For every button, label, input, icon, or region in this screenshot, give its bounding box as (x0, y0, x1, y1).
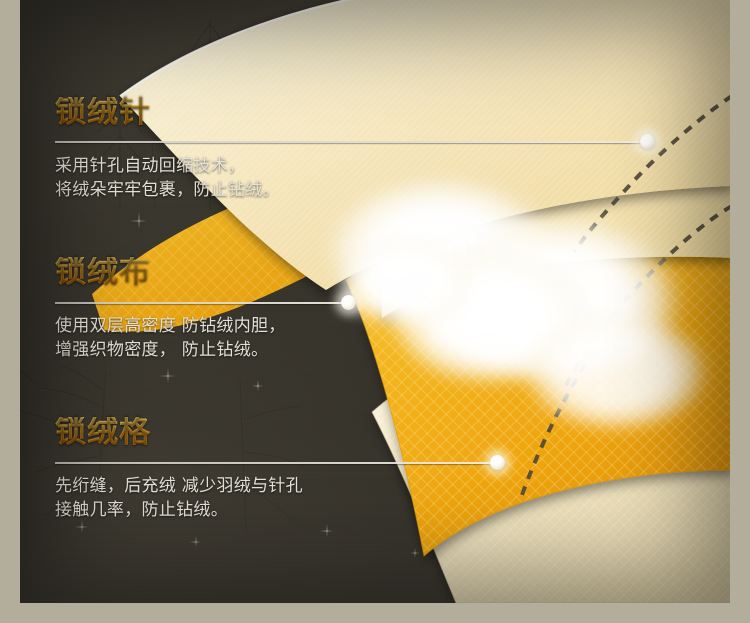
frame-edge-right (730, 0, 750, 623)
feature-description-2: 使用双层高密度 防钻绒内胆， 增强织物密度， 防止钻绒。 (55, 314, 485, 362)
feature-description-3: 先绗缝，后充绒 减少羽绒与针孔 接触几率，防止钻绒。 (55, 474, 485, 522)
feature-title-2: 锁绒布 (55, 257, 485, 288)
feature-title-3: 锁绒格 (55, 417, 485, 448)
feature-block-1: 锁绒针 采用针孔自动回缩技术， 将绒朵牢牢包裹，防止钻绒。 (55, 97, 485, 202)
feature-description-1: 采用针孔自动回缩技术， 将绒朵牢牢包裹，防止钻绒。 (55, 154, 485, 202)
feature-block-3: 锁绒格 先绗缝，后充绒 减少羽绒与针孔 接触几率，防止钻绒。 (55, 417, 485, 522)
dark-panel: 锁绒针 采用针孔自动回缩技术， 将绒朵牢牢包裹，防止钻绒。 锁绒布 使用双层高密… (20, 0, 730, 603)
frame-edge-bottom (0, 603, 750, 623)
marker-dot-3 (490, 455, 505, 470)
marker-dot-1 (640, 134, 655, 149)
frame-edge-left (0, 0, 20, 623)
feature-title-1: 锁绒针 (55, 97, 485, 128)
product-feature-graphic: 锁绒针 采用针孔自动回缩技术， 将绒朵牢牢包裹，防止钻绒。 锁绒布 使用双层高密… (0, 0, 750, 623)
feature-block-2: 锁绒布 使用双层高密度 防钻绒内胆， 增强织物密度， 防止钻绒。 (55, 257, 485, 362)
